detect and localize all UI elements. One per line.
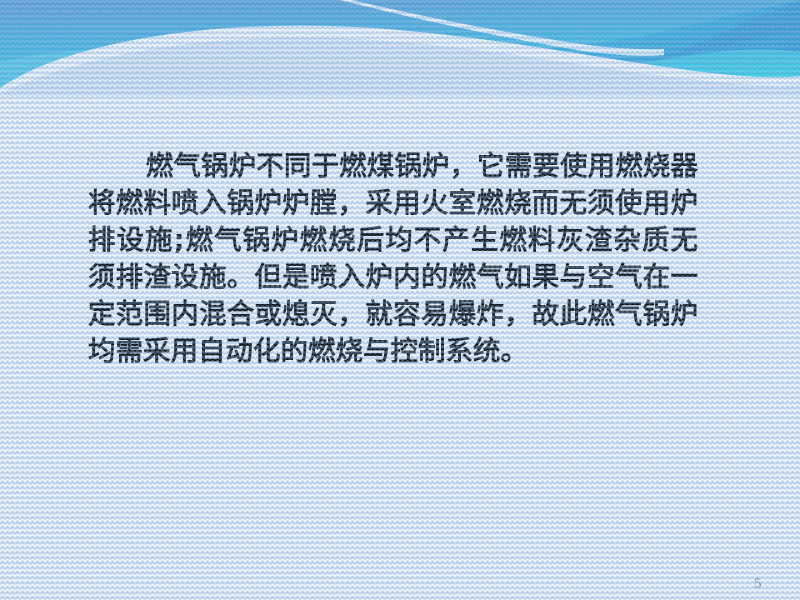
slide-canvas: 燃气锅炉不同于燃煤锅炉，它需要使用燃烧器将燃料喷入锅炉炉膛，采用火室燃烧而无须使…	[0, 0, 800, 600]
header-wave-decoration	[0, 0, 800, 96]
page-number: 5	[754, 578, 762, 592]
slide-body-text: 燃气锅炉不同于燃煤锅炉，它需要使用燃烧器将燃料喷入锅炉炉膛，采用火室燃烧而无须使…	[88, 148, 698, 370]
